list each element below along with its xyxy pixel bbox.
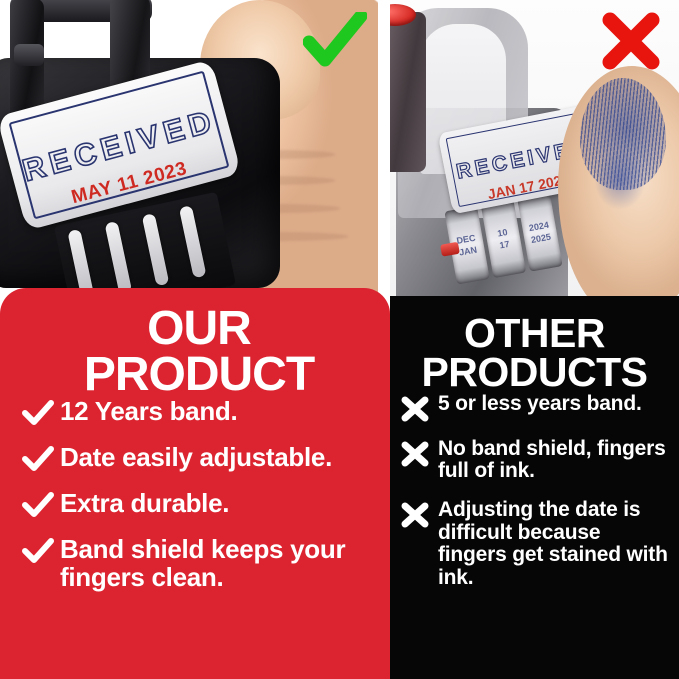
wheel-label: JAN — [458, 245, 477, 257]
list-item: Adjusting the date is difficult because … — [400, 499, 669, 590]
feature-text: Band shield keeps your fingers clean. — [60, 536, 376, 591]
wheel-label: DEC — [456, 233, 476, 245]
feature-text: Date easily adjustable. — [60, 444, 332, 472]
feature-text: Adjusting the date is difficult because … — [438, 499, 669, 590]
stamp-handle-knob — [14, 44, 44, 66]
wheel-label: 17 — [499, 239, 510, 250]
list-item: 5 or less years band. — [400, 393, 669, 422]
photo-strip: RECEIVED MAY 11 2023 DEC JAN — [0, 0, 679, 300]
wheel-label: 2025 — [530, 232, 551, 244]
title-line-2: PRODUCT — [84, 348, 314, 401]
check-icon — [22, 446, 54, 472]
cross-icon — [400, 441, 430, 467]
comparison-infographic: RECEIVED MAY 11 2023 DEC JAN — [0, 0, 679, 679]
band-wheel — [179, 205, 207, 278]
other-products-panel: OTHER PRODUCTS 5 or less years band. No — [390, 296, 679, 679]
feature-text: 12 Years band. — [60, 398, 237, 426]
list-item: Extra durable. — [22, 490, 376, 518]
band-wheel — [105, 221, 133, 294]
list-item: Band shield keeps your fingers clean. — [22, 536, 376, 591]
list-item: Date easily adjustable. — [22, 444, 376, 472]
our-product-title: OUR PRODUCT — [22, 306, 376, 398]
list-item: 12 Years band. — [22, 398, 376, 426]
title-line-2: PRODUCTS — [421, 349, 647, 395]
check-icon — [22, 400, 54, 426]
green-check-badge — [303, 12, 367, 70]
other-products-feature-list: 5 or less years band. No band shield, fi… — [400, 393, 669, 590]
cross-icon — [400, 502, 430, 528]
check-icon — [22, 492, 54, 518]
wheel-label: 2024 — [528, 220, 549, 232]
stamp-plunger — [390, 12, 426, 172]
cross-icon — [400, 396, 430, 422]
other-products-title: OTHER PRODUCTS — [400, 314, 669, 393]
feature-text: 5 or less years band. — [438, 393, 642, 416]
stamp-body: RECEIVED MAY 11 2023 — [0, 58, 280, 288]
our-product-feature-list: 12 Years band. Date easily adjustable. E… — [22, 398, 376, 591]
list-item: No band shield, fingers full of ink. — [400, 438, 669, 483]
check-icon — [22, 538, 54, 564]
wheel-label: 10 — [497, 228, 508, 239]
red-cross-badge — [598, 8, 664, 74]
ink-smudge — [594, 150, 646, 210]
title-line-1: OUR — [147, 302, 251, 355]
feature-text: No band shield, fingers full of ink. — [438, 438, 669, 483]
feature-text: Extra durable. — [60, 490, 229, 518]
band-wheel — [142, 213, 170, 286]
our-product-panel: OUR PRODUCT 12 Years band. Date easily a — [0, 288, 390, 679]
